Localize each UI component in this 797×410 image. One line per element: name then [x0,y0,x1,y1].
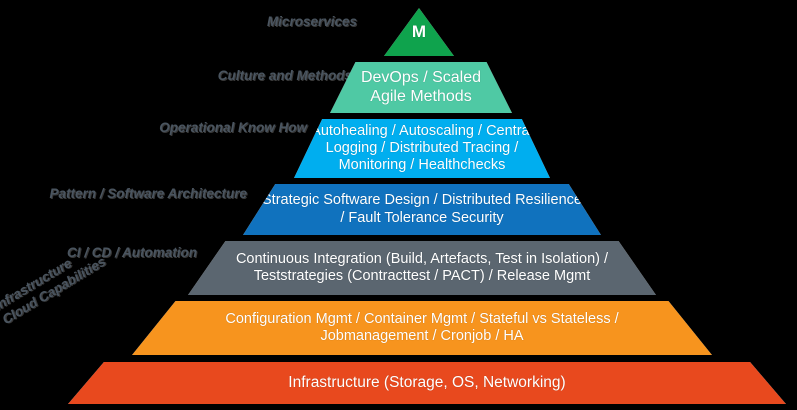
pyramid-level-microservices[interactable]: M [384,8,454,56]
side-label-culture-and-methods: Culture and Methods [218,68,352,84]
pyramid-level-culture-and-methods[interactable]: DevOps / Scaled Agile Methods [330,62,512,113]
level-text-infrastructure-cloud-capabilities: Configuration Mgmt / Container Mgmt / St… [219,311,624,345]
level-text-pattern-software-architecture: Strategic Software Design / Distributed … [256,192,588,226]
pyramid-level-infrastructure-base[interactable]: Infrastructure (Storage, OS, Networking) [68,362,786,404]
level-text-infrastructure-base: Infrastructure (Storage, OS, Networking) [282,374,571,392]
pyramid-level-operational-know-how[interactable]: Autohealing / Autoscaling / Central Logg… [294,119,550,178]
pyramid-diagram: Microservices Culture and Methods Operat… [0,0,797,410]
pyramid-level-pattern-software-architecture[interactable]: Strategic Software Design / Distributed … [243,184,601,235]
side-label-operational-know-how: Operational Know How [159,120,307,136]
pyramid-level-ci-cd-automation[interactable]: Continuous Integration (Build, Artefacts… [188,241,656,295]
side-label-pattern-software-architecture: Pattern / Software Architecture [49,186,247,202]
pyramid-level-infrastructure-cloud-capabilities[interactable]: Configuration Mgmt / Container Mgmt / St… [132,301,712,355]
level-text-culture-and-methods: DevOps / Scaled Agile Methods [355,69,487,107]
level-text-ci-cd-automation: Continuous Integration (Build, Artefacts… [230,251,614,285]
side-label-infrastructure-cloud-capabilities: Infrastructure Cloud Capabilities [0,240,109,328]
level-text-operational-know-how: Autohealing / Autoscaling / Central Logg… [305,123,539,174]
side-label-microservices: Microservices [267,14,357,30]
level-text-microservices: M [406,22,432,42]
